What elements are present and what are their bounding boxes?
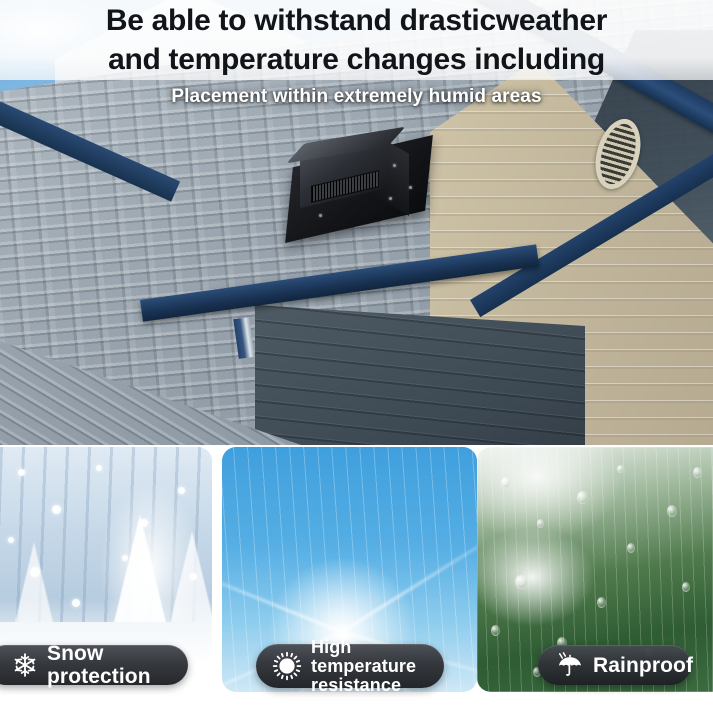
badge-snow-protection[interactable]: Snow protection [0,645,188,685]
shadowed-wall [255,305,585,445]
subtitle-text: Placement within extremely humid areas [0,86,713,108]
headline-line-2: and temperature changes including [108,40,605,79]
snowflake-particle [8,537,14,543]
water-droplet [667,505,677,517]
water-droplet [627,543,635,553]
snowflake-particle [30,567,40,577]
water-droplet [515,575,527,589]
water-droplet [537,519,544,528]
snowflake-particle [96,465,102,471]
water-droplet [491,625,500,636]
headline-overlay: Be able to withstand drasticweather and … [0,0,713,80]
umbrella-icon [556,651,584,679]
water-droplet [682,582,690,592]
snowflake-particle [122,555,128,561]
product-feature-banner: Be able to withstand drasticweather and … [0,0,713,713]
snowflake-particle [190,573,197,580]
snowflake-icon [12,652,38,678]
vent-screw [319,214,322,217]
badge-label: High temperature resistance [311,638,444,695]
badge-rainproof[interactable]: Rainproof [538,645,691,685]
badge-high-temperature-resistance[interactable]: High temperature resistance [256,644,444,688]
snowflake-particle [52,505,61,514]
vent-screw [393,164,396,167]
sun-icon [272,651,302,681]
water-droplet [501,477,510,488]
snowflake-particle [178,487,185,494]
snowflake-particle [18,469,25,476]
vent-screw [389,197,392,200]
badge-label: Rainproof [593,654,693,677]
vent-screw [409,186,412,189]
water-droplet [597,597,606,608]
snowflake-particle [72,599,80,607]
headline-line-1: Be able to withstand drasticweather [106,1,607,40]
badge-label: Snow protection [47,642,188,688]
roof-vent-product [289,142,429,230]
snowflake-particle [140,519,148,527]
water-droplet [617,465,624,473]
water-droplet [577,491,588,504]
water-droplet [693,467,702,478]
